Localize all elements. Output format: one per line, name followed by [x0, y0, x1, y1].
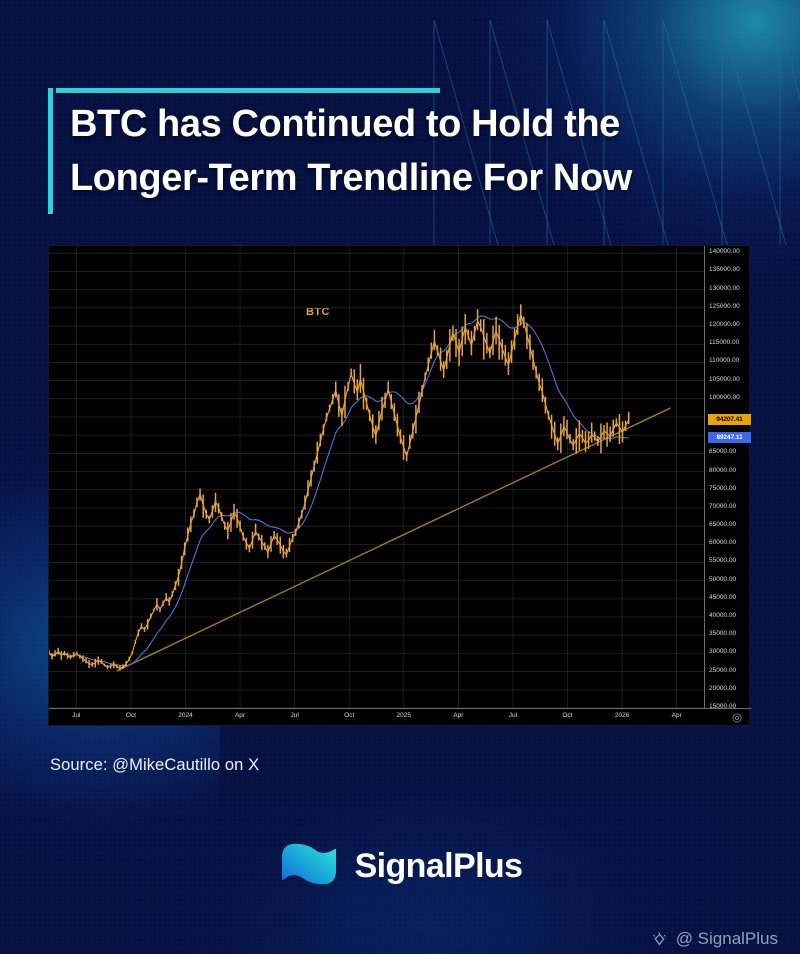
x-axis-tick: 2025 — [397, 713, 411, 720]
brand-logo-text: SignalPlus — [355, 847, 523, 886]
headline-line-2: Longer-Term Trendline For Now — [70, 152, 728, 206]
chart-gridlines — [49, 246, 704, 708]
watermark: @ SignalPlus — [651, 929, 778, 949]
price-series-path — [49, 304, 629, 670]
headline-line-1: BTC has Continued to Hold the — [70, 98, 728, 152]
brand-logo: SignalPlus — [0, 838, 800, 894]
y-axis-separator — [704, 246, 705, 708]
sparkle-diamond-icon — [651, 931, 668, 948]
y-axis-tick: 130000.00 — [709, 286, 740, 293]
x-axis-tick: Jul — [72, 713, 80, 720]
y-axis-labels: 140000.00135000.00130000.00125000.001200… — [706, 246, 751, 708]
y-axis-tick: 80000.00 — [709, 468, 736, 475]
y-axis-tick: 30000.00 — [709, 649, 736, 656]
x-axis-tick: 2026 — [615, 713, 629, 720]
watermark-text: @ SignalPlus — [676, 929, 778, 949]
y-axis-tick: 65000.00 — [709, 522, 736, 529]
x-axis-tick: Apr — [235, 713, 245, 720]
moving-average-path — [49, 316, 629, 666]
y-axis-tick: 105000.00 — [709, 377, 740, 384]
y-axis-tick: 40000.00 — [709, 613, 736, 620]
page-title: BTC has Continued to Hold the Longer-Ter… — [70, 88, 728, 206]
y-axis-tick: 20000.00 — [709, 686, 736, 693]
y-axis-tick: 100000.00 — [709, 395, 740, 402]
accent-bar-left — [48, 88, 53, 214]
x-axis-labels: JulOct2024AprJulOct2025AprJulOct2026Apr — [49, 709, 751, 727]
x-axis-tick: 2024 — [178, 713, 192, 720]
y-axis-tick: 25000.00 — [709, 668, 736, 675]
y-axis-tick: 110000.00 — [709, 358, 739, 365]
y-axis-tick: 85000.00 — [709, 449, 736, 456]
x-axis-tick: Oct — [562, 713, 572, 720]
y-axis-tick: 115000.00 — [709, 340, 739, 347]
moving-average-price-tag: 89247.11 — [708, 432, 751, 443]
last-price-tag: 94207.41 — [708, 414, 751, 425]
headline-block: BTC has Continued to Hold the Longer-Ter… — [48, 88, 728, 206]
x-axis-tick: Oct — [126, 713, 136, 720]
plot-svg — [49, 246, 704, 708]
x-axis-tick: Apr — [672, 713, 682, 720]
y-axis-tick: 55000.00 — [709, 558, 736, 565]
y-axis-tick: 140000.00 — [709, 249, 740, 256]
y-axis-tick: 125000.00 — [709, 304, 740, 311]
btc-price-chart[interactable]: BTC 140000.00135000.00130000.00125000.00… — [48, 245, 750, 726]
y-axis-tick: 70000.00 — [709, 504, 736, 511]
x-axis-tick: Jul — [290, 713, 298, 720]
signalplus-wave-icon — [278, 838, 340, 894]
gear-icon[interactable] — [731, 712, 743, 724]
poster-canvas: BTC has Continued to Hold the Longer-Ter… — [0, 0, 800, 954]
x-axis-tick: Jul — [509, 713, 517, 720]
y-axis-tick: 35000.00 — [709, 631, 736, 638]
chart-plot-area[interactable] — [49, 246, 704, 708]
x-axis-tick: Oct — [344, 713, 354, 720]
trendline-path — [117, 408, 671, 671]
y-axis-tick: 60000.00 — [709, 540, 736, 547]
y-axis-tick: 135000.00 — [709, 267, 740, 274]
y-axis-tick: 45000.00 — [709, 595, 736, 602]
y-axis-tick: 50000.00 — [709, 577, 736, 584]
x-axis-tick: Apr — [453, 713, 463, 720]
source-attribution: Source: @MikeCautillo on X — [50, 756, 259, 775]
y-axis-tick: 75000.00 — [709, 486, 736, 493]
y-axis-tick: 120000.00 — [709, 322, 740, 329]
